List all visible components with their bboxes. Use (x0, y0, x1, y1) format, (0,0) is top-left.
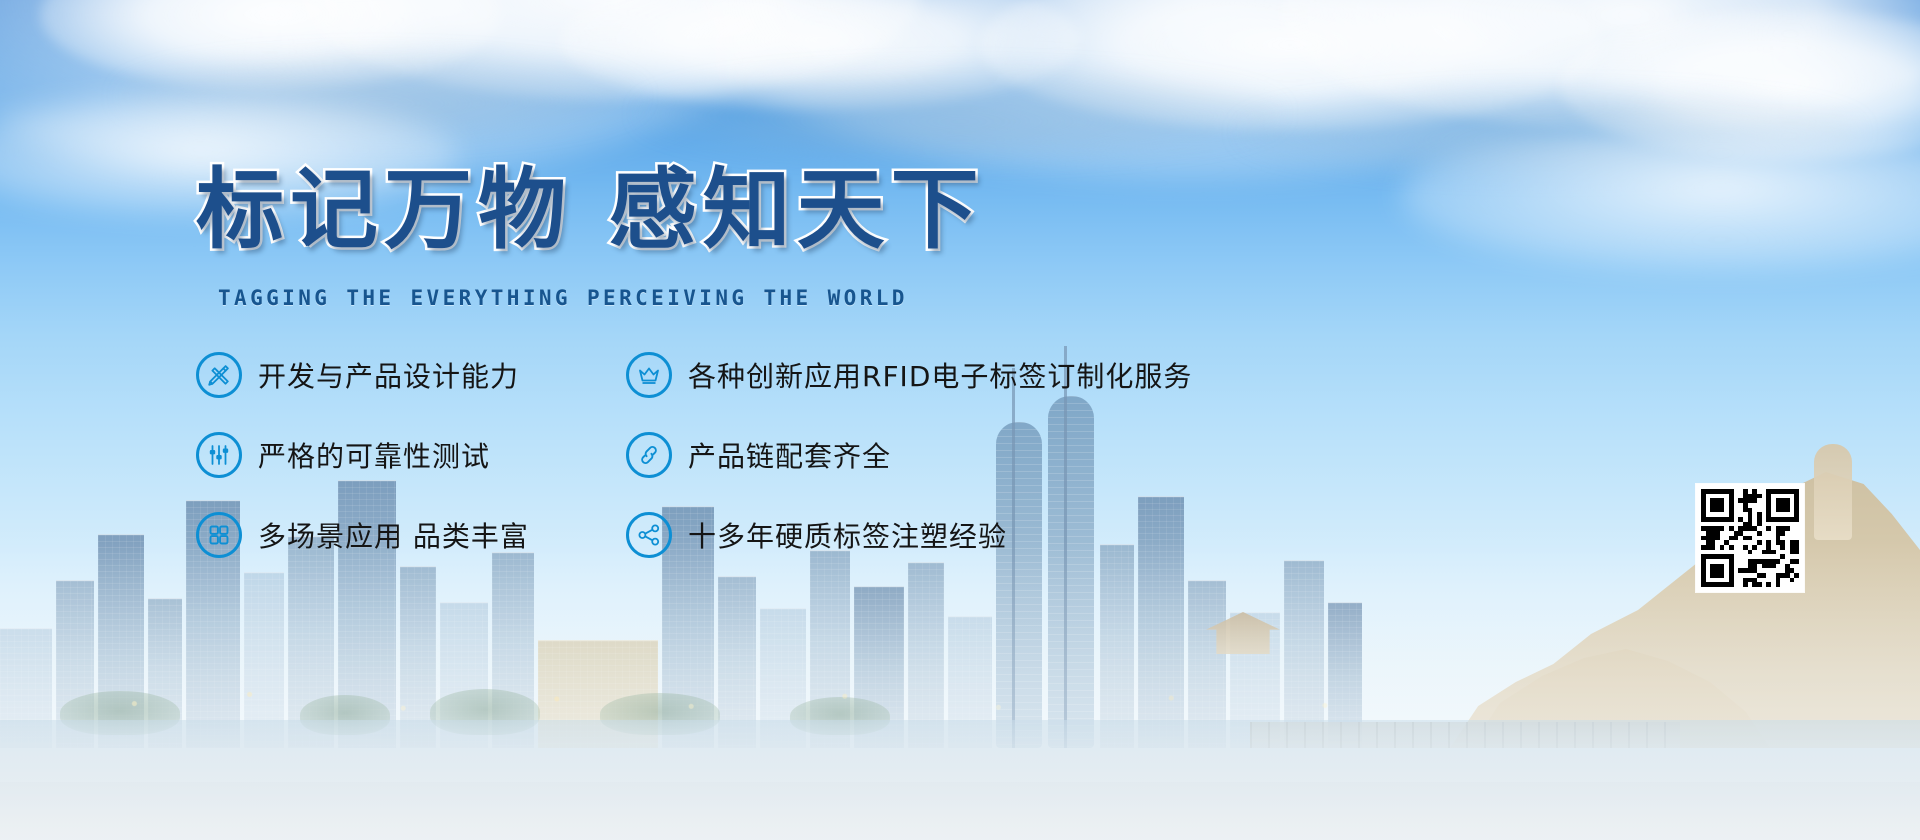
feature-label: 产品链配套齐全 (688, 435, 891, 475)
feature-label: 多场景应用 品类丰富 (258, 515, 529, 555)
feature-item-product-chain: 产品链配套齐全 (626, 432, 1326, 478)
crown-icon (626, 352, 672, 398)
feature-item-reliability-test: 严格的可靠性测试 (196, 432, 626, 478)
page-subtitle: TAGGING THE EVERYTHING PERCEIVING THE WO… (218, 286, 908, 310)
feature-label: 开发与产品设计能力 (258, 355, 519, 395)
share-nodes-icon (626, 512, 672, 558)
feature-item-injection-experience: 十多年硬质标签注塑经验 (626, 512, 1326, 558)
page-title: 标记万物 感知天下 (196, 166, 985, 254)
promo-banner: 标记万物 感知天下 TAGGING THE EVERYTHING PERCEIV… (0, 0, 1920, 840)
feature-item-rfid-custom: 各种创新应用RFID电子标签订制化服务 (626, 352, 1326, 398)
feature-row: 多场景应用 品类丰富 十多年硬质标签注塑经验 (196, 512, 1346, 558)
sliders-icon (196, 432, 242, 478)
link-chain-icon (626, 432, 672, 478)
qr-code[interactable] (1696, 484, 1804, 592)
feature-row: 严格的可靠性测试 产品链配套齐全 (196, 432, 1346, 478)
feature-row: 开发与产品设计能力 各种创新应用RFID电子标签订制化服务 (196, 352, 1346, 398)
grid-squares-icon (196, 512, 242, 558)
pencil-ruler-icon (196, 352, 242, 398)
feature-list: 开发与产品设计能力 各种创新应用RFID电子标签订制化服务 (196, 352, 1346, 592)
feature-item-development: 开发与产品设计能力 (196, 352, 626, 398)
feature-item-multi-scenario: 多场景应用 品类丰富 (196, 512, 626, 558)
feature-label: 十多年硬质标签注塑经验 (688, 515, 1007, 555)
feature-label: 各种创新应用RFID电子标签订制化服务 (688, 355, 1192, 395)
feature-label: 严格的可靠性测试 (258, 435, 490, 475)
